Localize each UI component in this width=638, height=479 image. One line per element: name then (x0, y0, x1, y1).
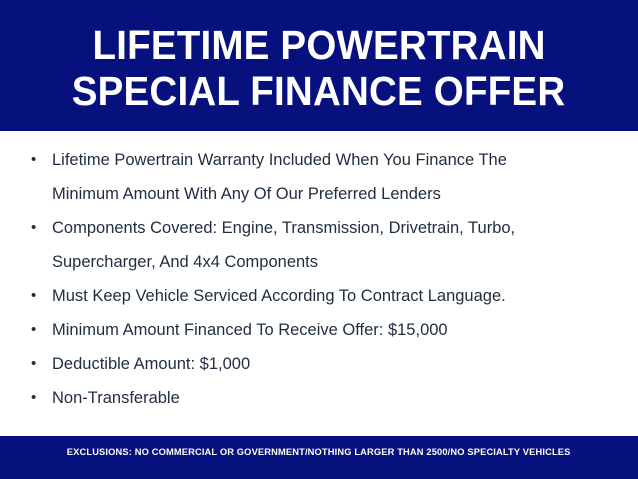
offer-details-body: Lifetime Powertrain Warranty Included Wh… (0, 131, 638, 436)
list-item: Must Keep Vehicle Serviced According To … (31, 279, 598, 313)
list-item: Components Covered: Engine, Transmission… (31, 211, 598, 279)
list-item: Non-Transferable (31, 381, 598, 415)
list-item: Minimum Amount Financed To Receive Offer… (31, 313, 598, 347)
footer-banner: EXCLUSIONS: NO COMMERCIAL OR GOVERNMENT/… (0, 436, 638, 479)
offer-bullet-list: Lifetime Powertrain Warranty Included Wh… (31, 143, 598, 415)
page-title-line-2: SPECIAL FINANCE OFFER (72, 68, 566, 114)
list-item: Deductible Amount: $1,000 (31, 347, 598, 381)
header-banner: LIFETIME POWERTRAIN SPECIAL FINANCE OFFE… (0, 0, 638, 131)
page-title-line-1: LIFETIME POWERTRAIN (92, 22, 545, 68)
exclusions-disclaimer: EXCLUSIONS: NO COMMERCIAL OR GOVERNMENT/… (67, 447, 571, 459)
list-item: Lifetime Powertrain Warranty Included Wh… (31, 143, 598, 211)
offer-slide: LIFETIME POWERTRAIN SPECIAL FINANCE OFFE… (0, 0, 638, 479)
